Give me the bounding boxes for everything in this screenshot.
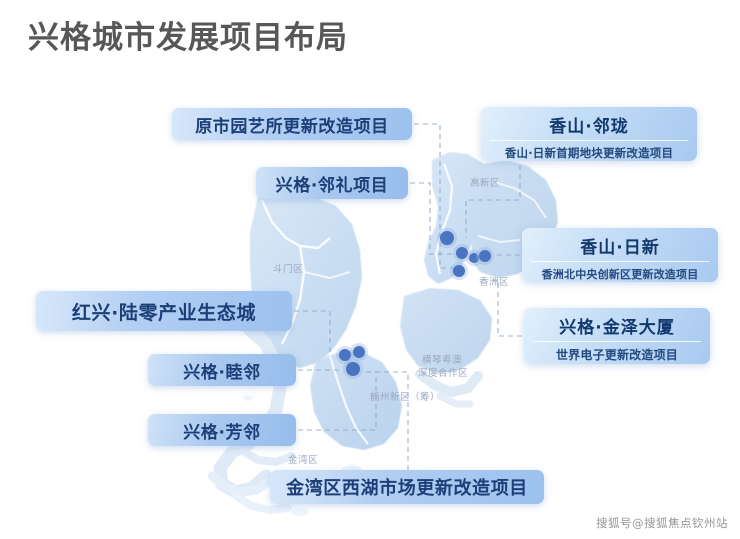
district-label-hengqin-1: 横琴粤澳 <box>422 355 462 367</box>
map-region-hengqin <box>400 288 492 404</box>
district-label-xiangzhou: 香洲区 <box>479 277 509 289</box>
district-label-hezhou: 鹤州新区（筹） <box>370 392 440 404</box>
map-marker-gaoxin[interactable] <box>440 231 454 245</box>
watermark: 搜狐号@搜狐焦点钦州站 <box>596 515 728 531</box>
map-marker-xiangzhou-c[interactable] <box>479 250 491 262</box>
map-marker-xiangzhou-b[interactable] <box>469 253 479 263</box>
map-marker-xiangzhou-d[interactable] <box>453 265 465 277</box>
label-xihu[interactable]: 金湾区西湖市场更新改造项目 <box>270 470 544 504</box>
card-jinze[interactable]: 兴格·金泽大厦 世界电子更新改造项目 <box>524 308 710 364</box>
card-rixin-title: 香山·日新 <box>522 228 718 261</box>
district-label-jinwan: 金湾区 <box>288 455 318 467</box>
card-linglong-subtitle: 香山·日新首期地块更新改造项目 <box>481 141 697 161</box>
card-linglong-title: 香山·邻珑 <box>481 107 697 140</box>
card-rixin[interactable]: 香山·日新 香洲北中央创新区更新改造项目 <box>522 228 718 282</box>
map-marker-jinwan-a[interactable] <box>339 349 351 361</box>
label-fanglin[interactable]: 兴格·芳邻 <box>148 414 296 446</box>
card-linglong[interactable]: 香山·邻珑 香山·日新首期地块更新改造项目 <box>481 107 697 161</box>
district-label-doumen: 斗门区 <box>273 264 303 276</box>
district-label-hengqin-2: 深度合作区 <box>418 368 468 380</box>
label-linli[interactable]: 兴格·邻礼项目 <box>256 167 408 199</box>
card-jinze-subtitle: 世界电子更新改造项目 <box>524 342 710 364</box>
infographic-canvas: 兴格城市发展项目布局 <box>0 0 740 539</box>
label-yuanshi-yuanyi[interactable]: 原市园艺所更新改造项目 <box>172 108 412 140</box>
district-label-gaoxin: 高新区 <box>470 178 500 190</box>
map-marker-xiangzhou-a[interactable] <box>456 247 468 259</box>
label-mulin[interactable]: 兴格·睦邻 <box>148 354 296 386</box>
label-hongxing[interactable]: 红兴·陆零产业生态城 <box>36 291 292 331</box>
card-jinze-title: 兴格·金泽大厦 <box>524 308 710 341</box>
card-rixin-subtitle: 香洲北中央创新区更新改造项目 <box>522 262 718 282</box>
map-marker-jinwan-b[interactable] <box>353 346 365 358</box>
map-marker-jinwan-c[interactable] <box>346 362 360 376</box>
